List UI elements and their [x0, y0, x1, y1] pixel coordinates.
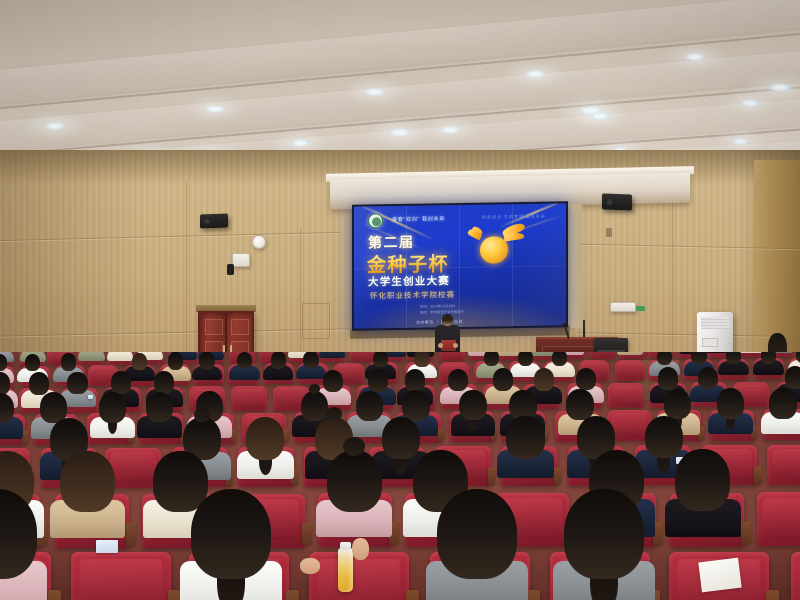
audience-member-torso [107, 352, 134, 361]
audience-member-head [717, 388, 744, 419]
auditorium-seat[interactable] [767, 445, 800, 485]
audience-member-head [323, 370, 343, 392]
audience-member-head [414, 352, 429, 367]
wall-sensor-icon [606, 228, 612, 237]
audience-member-head [60, 451, 115, 513]
smartphone [88, 395, 94, 399]
audience-member-head [168, 352, 183, 369]
seat-armrest [488, 467, 495, 485]
seat-armrest [406, 590, 419, 600]
audience-member-head [61, 353, 76, 370]
auditorium-seat[interactable] [791, 552, 800, 600]
audience-member-head [698, 367, 718, 389]
led-screen-content: 青春“双创” 我创未来 创新创业 共筑梦想 赢在未来 第二届 金种子杯 大学生创… [354, 203, 566, 328]
audience-member-head [246, 417, 284, 460]
ceiling-downlight [684, 53, 706, 61]
audience-member-head [437, 489, 518, 579]
audience-member-head [327, 450, 382, 512]
held-paper [698, 558, 741, 593]
downlight-bulb [447, 128, 451, 131]
downlight-bulb [777, 86, 781, 89]
wall-outline-mark [302, 303, 330, 339]
auditorium-photo: 青春“双创” 我创未来 创新创业 共筑梦想 赢在未来 第二届 金种子杯 大学生创… [0, 0, 800, 600]
audience-member-head [402, 390, 429, 421]
audience-member-head [191, 489, 272, 579]
audience-member-head [657, 352, 672, 365]
audience-member-head [785, 366, 800, 388]
audience-member-head [576, 368, 596, 390]
drink-bottle [338, 548, 353, 592]
speaker-icon [200, 214, 228, 229]
audience-member-head [691, 352, 706, 364]
audience-member-head [356, 391, 383, 422]
audience-member-head [664, 389, 691, 420]
audience-member-head [726, 352, 741, 364]
ac-vent-grille [701, 317, 729, 329]
audience-member-head [769, 388, 796, 419]
ceiling-downlight [590, 112, 610, 120]
audience-member-torso [737, 352, 764, 353]
speaker-icon [602, 193, 632, 210]
seat-armrest [754, 466, 761, 484]
audience-member-head [675, 449, 730, 511]
audience-member-torso [319, 352, 346, 358]
audience-member-head [382, 417, 420, 460]
seat-armrest [48, 590, 61, 600]
audience-member-head [459, 390, 486, 421]
ceiling-downlight [204, 105, 226, 113]
audience-member-head [99, 392, 126, 423]
audience-member-head [493, 368, 513, 390]
audience-member-head [154, 371, 174, 393]
downlight-bulb [696, 55, 700, 58]
audience-member-head [25, 354, 40, 371]
downlight-bulb [397, 131, 401, 134]
seat-armrest [741, 521, 751, 545]
led-display-screen[interactable]: 青春“双创” 我创未来 创新创业 共筑梦想 赢在未来 第二届 金种子杯 大学生创… [352, 201, 568, 330]
downlight-bulb [751, 101, 755, 104]
auditorium-seat[interactable] [757, 492, 800, 546]
downlight-bulb [376, 90, 380, 93]
audience-hand [352, 538, 369, 560]
ac-control-panel[interactable] [702, 338, 718, 347]
audience-member-head [368, 369, 388, 391]
audience-member-head [237, 352, 252, 369]
audience-member-torso [78, 352, 105, 361]
smartphone [96, 540, 118, 553]
audience-member-head [552, 352, 567, 366]
downlight-bulb [451, 128, 455, 131]
audience-member-head [199, 352, 214, 369]
audience-member-head [111, 371, 131, 393]
seat-armrest [126, 522, 136, 546]
audience-member-head [645, 416, 683, 459]
downlight-bulb [401, 131, 405, 134]
auditorium-seat[interactable] [71, 552, 171, 600]
security-camera-icon [227, 264, 234, 275]
door-panel [231, 319, 249, 335]
seat-armrest [527, 590, 540, 600]
audience-member-torso [617, 352, 644, 355]
seat-armrest [286, 590, 299, 600]
auditorium-seat[interactable] [615, 360, 645, 381]
hair-bun [326, 407, 341, 421]
presenter-head [442, 314, 453, 326]
audience-member-head [301, 391, 328, 422]
downlight-bulb [781, 86, 785, 89]
downlight-bulb [216, 107, 220, 110]
bottle-cap [340, 542, 351, 550]
hair-bun [194, 408, 209, 422]
hair-bun [309, 384, 320, 394]
seat-armrest [438, 428, 444, 442]
audience-member-head [132, 353, 147, 370]
audience-member-head [146, 392, 173, 423]
downlight-bulb [212, 107, 216, 110]
audience-member-head [518, 352, 533, 366]
seat-armrest [22, 430, 28, 444]
audience-member-head [271, 352, 286, 369]
audience-member-head [761, 352, 776, 364]
seat-armrest [302, 522, 312, 546]
screen-glare [354, 203, 566, 328]
wall-clock-icon [252, 235, 266, 249]
downlight-bulb [747, 101, 751, 104]
audience-member-head [506, 416, 544, 459]
audience-member-head [658, 367, 678, 389]
audience-member-head [534, 368, 554, 390]
seat-armrest [554, 467, 561, 485]
presenter-hand [453, 343, 458, 348]
audience-member-head [67, 372, 87, 394]
auditorium-seat[interactable] [439, 352, 465, 361]
audience-member-head [564, 489, 645, 579]
auditorium-seat[interactable] [589, 352, 615, 359]
wall-panel-seam [672, 178, 673, 378]
audience-seating-area [0, 352, 800, 600]
auditorium-seat[interactable] [349, 352, 375, 362]
downlight-bulb [692, 55, 696, 58]
audience-member-head [405, 369, 425, 391]
screen-side-wall [568, 204, 582, 328]
auditorium-seat[interactable] [231, 386, 267, 411]
audience-member-head [484, 352, 499, 366]
auditorium-seat[interactable] [608, 383, 644, 408]
audience-member-head [566, 389, 593, 420]
seat-armrest [766, 590, 779, 600]
ceiling-downlight [44, 122, 66, 130]
ceiling-downlight [290, 139, 310, 147]
wall-control-box[interactable] [232, 253, 250, 267]
seat-armrest [653, 521, 663, 545]
audience-member-head [29, 372, 49, 394]
downlight-bulb [372, 90, 376, 93]
audience-member-head [303, 352, 318, 368]
audience-member-head [448, 369, 468, 391]
wall-electrical-panel[interactable] [610, 302, 636, 312]
ceiling-downlight [732, 138, 749, 145]
door-panel [205, 319, 223, 335]
audience-hand [300, 558, 320, 574]
presenter-hand [438, 343, 443, 348]
